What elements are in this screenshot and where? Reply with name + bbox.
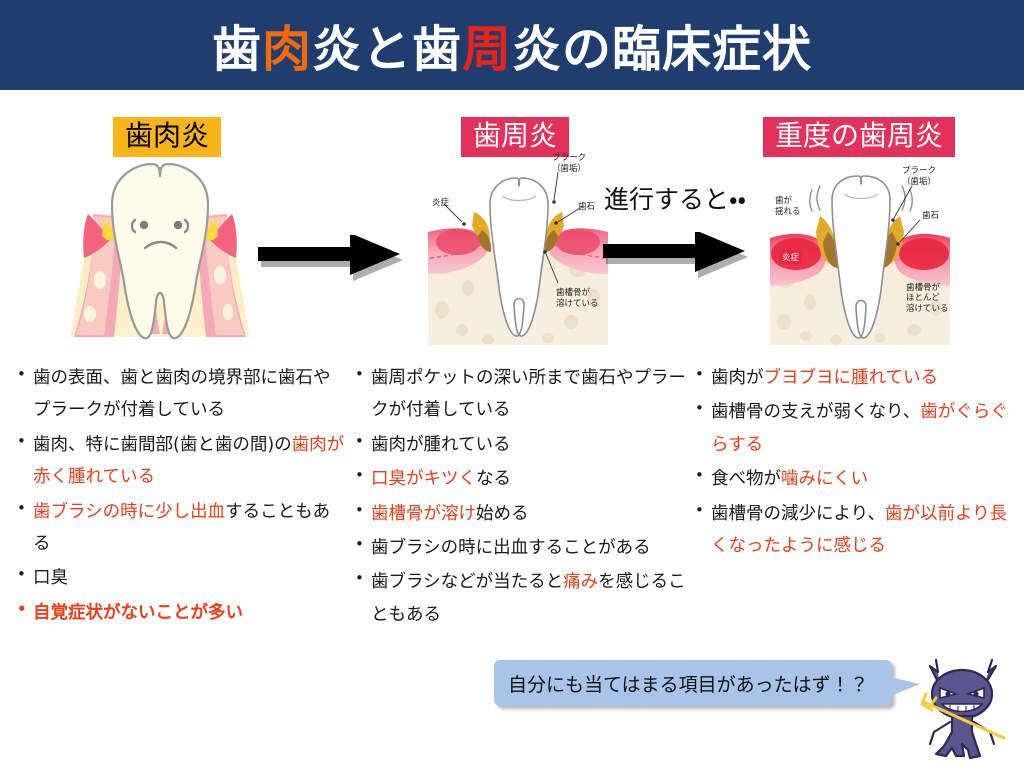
bullet-item: 歯肉がブヨブヨに腫れている: [692, 362, 1022, 394]
bullet-text-emphasis: 噛みにくい: [781, 469, 868, 489]
bullet-text-emphasis: 歯ブラシの時に少し出血: [33, 502, 225, 522]
label-tooth-mobility-stage3: 歯が 揺れる: [775, 196, 801, 217]
bullet-text: 口臭: [33, 568, 68, 588]
label-plaque-stage2: プラーク （歯垢）: [552, 153, 586, 174]
slide-root: 歯肉炎と歯周炎の臨床症状 歯肉炎 歯周炎 重度の歯周炎: [0, 0, 1024, 768]
bullet-text: 食べ物が: [711, 469, 781, 489]
bullet-text-emphasis: 歯槽骨が溶け: [371, 504, 476, 524]
bullet-column-gingivitis: 歯の表面、歯と歯肉の境界部に歯石やプラークが付着している 歯肉、特に歯間部(歯と…: [14, 362, 346, 631]
bullet-item: 歯槽骨の減少により、歯が以前より長くなったように感じる: [692, 498, 1022, 563]
bullet-item: 歯肉が腫れている: [352, 429, 692, 461]
progress-note: 進行すると・・: [604, 180, 746, 216]
label-calculus-stage3: 歯石: [922, 209, 939, 221]
bullet-item: 口臭がキツくなる: [352, 463, 692, 495]
callout-bubble: 自分にも当てはまる項目があったはず！？: [494, 660, 892, 706]
bullet-item: 歯ブラシなどが当たると痛みを感じることもある: [352, 566, 692, 631]
bullet-item: 歯ブラシの時に出血することがある: [352, 532, 692, 564]
bullet-text: 歯槽骨の支えが弱くなり、: [711, 402, 920, 422]
arrow-stage-1-to-2: [258, 235, 408, 291]
bullet-item: 歯の表面、歯と歯肉の境界部に歯石やプラークが付着している: [14, 362, 346, 427]
callout-text: 自分にも当てはまる項目があったはず！？: [494, 670, 869, 697]
label-inflammation-stage2: 炎症: [432, 196, 449, 208]
illustration-sad-tooth: [52, 162, 267, 347]
bullet-text: 歯肉が腫れている: [371, 435, 510, 455]
stage-header-periodontitis: 歯周炎: [461, 117, 569, 157]
label-bone-loss-stage3: 歯槽骨が ほとんど 溶けている: [906, 283, 949, 314]
bullet-text-emphasis: 口臭がキツく: [371, 469, 476, 489]
title-seg-orange: 肉: [262, 10, 312, 81]
devil-germ-mascot-icon: [906, 652, 1018, 768]
bullet-text: 始める: [476, 504, 529, 524]
bullet-text: 歯ブラシなどが当たると: [371, 572, 563, 592]
bullet-text-emphasis: 痛み: [563, 572, 598, 592]
bullet-column-severe-periodontitis: 歯肉がブヨブヨに腫れている 歯槽骨の支えが弱くなり、歯がぐらぐらする 食べ物が噛…: [692, 362, 1022, 564]
bullet-text: 歯周ポケットの深い所まで歯石やプラークが付着している: [371, 368, 686, 420]
bullet-text: 歯の表面、歯と歯肉の境界部に歯石やプラークが付着している: [33, 368, 331, 420]
illustration-periodontitis: [428, 170, 608, 345]
arrow-stage-2-to-3: [603, 232, 753, 288]
bullet-item: 歯肉、特に歯間部(歯と歯の間)の歯肉が赤く腫れている: [14, 429, 346, 494]
bullet-column-periodontitis: 歯周ポケットの深い所まで歯石やプラークが付着している 歯肉が腫れている 口臭がキ…: [352, 362, 692, 633]
title-seg-5: 炎の臨床症状: [512, 10, 812, 81]
bullet-item: 歯槽骨が溶け始める: [352, 498, 692, 530]
label-inflammation-stage3: 炎症: [779, 250, 802, 264]
label-plaque-stage3: プラーク （歯垢）: [902, 166, 936, 187]
bullet-text: 歯ブラシの時に出血することがある: [371, 538, 651, 558]
stage-header-gingivitis: 歯肉炎: [113, 117, 221, 157]
bullet-item: 歯ブラシの時に少し出血することもある: [14, 496, 346, 561]
bullet-text-emphasis: 自覚症状がないことが多い: [33, 603, 243, 623]
bullet-text: 歯槽骨の減少により、: [711, 504, 885, 524]
title-seg-1: 歯: [212, 10, 262, 81]
page-title: 歯肉炎と歯周炎の臨床症状: [0, 0, 1024, 90]
bullet-item-emphasis: 自覚症状がないことが多い: [14, 597, 346, 629]
callout-bubble-body: 自分にも当てはまる項目があったはず！？: [494, 660, 892, 706]
bullet-item: 歯周ポケットの深い所まで歯石やプラークが付着している: [352, 362, 692, 427]
bullet-item: 歯槽骨の支えが弱くなり、歯がぐらぐらする: [692, 396, 1022, 461]
label-bone-loss-stage2: 歯槽骨が 溶けている: [556, 288, 599, 309]
bullet-text: 歯肉、特に歯間部(歯と歯の間)の: [33, 435, 292, 455]
bullet-text: 歯肉が: [711, 368, 764, 388]
bullet-item: 食べ物が噛みにくい: [692, 463, 1022, 495]
stage-header-severe-periodontitis: 重度の歯周炎: [763, 117, 955, 157]
bullet-item: 口臭: [14, 562, 346, 594]
bullet-text: なる: [476, 469, 511, 489]
title-seg-3: 炎と歯: [312, 10, 462, 81]
label-calculus-stage2: 歯石: [578, 200, 595, 212]
title-seg-red: 周: [462, 10, 512, 81]
bullet-text-emphasis: ブヨブヨに腫れている: [764, 368, 938, 388]
